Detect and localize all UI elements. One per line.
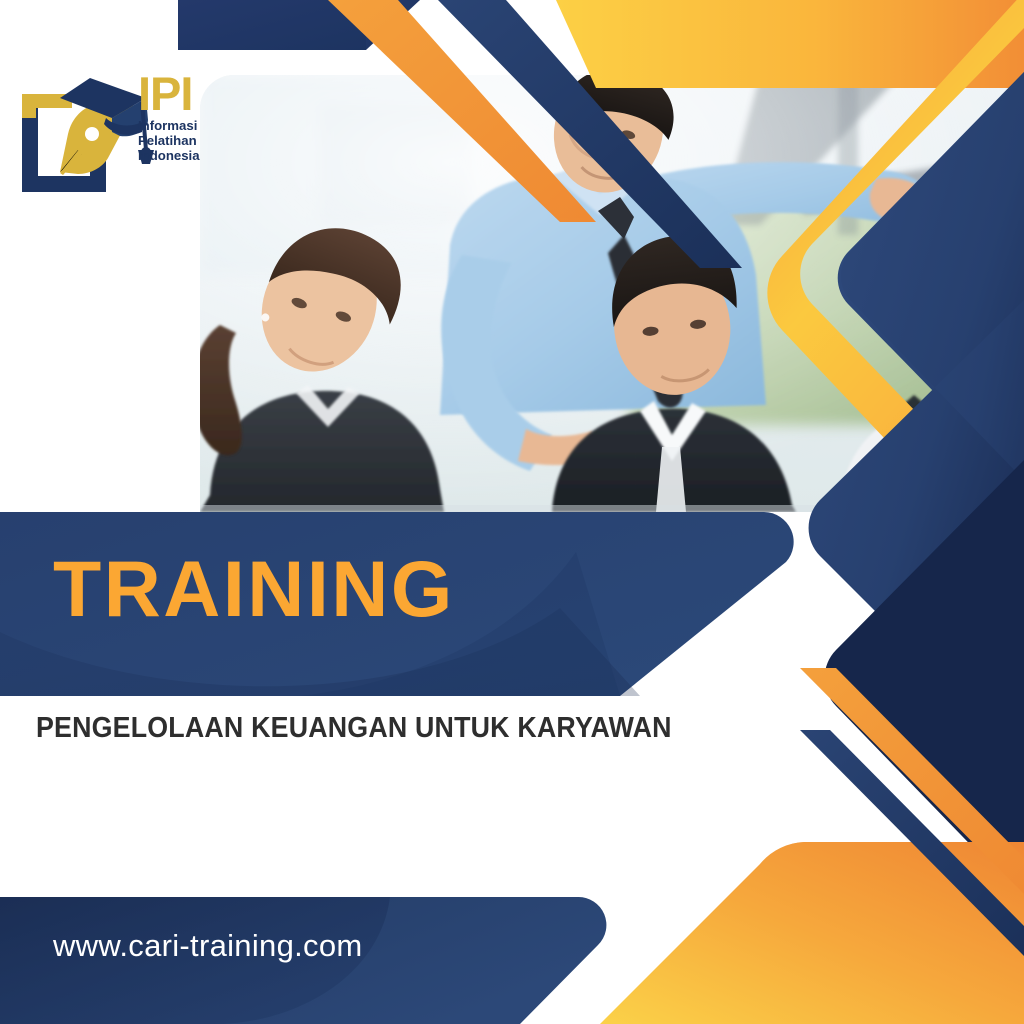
logo-tagline: Informasi Pelatihan Indonesia xyxy=(138,118,234,163)
orange-accent-stripe xyxy=(800,668,1024,894)
logo-tagline-line-1: Informasi xyxy=(138,118,234,133)
navy-wedge-shape xyxy=(178,0,420,50)
poster-canvas: IPI Informasi Pelatihan Indonesia xyxy=(0,0,1024,1024)
page-subtitle: PENGELOLAAN KEUANGAN UNTUK KARYAWAN xyxy=(36,712,672,745)
logo-tagline-line-3: Indonesia xyxy=(138,148,234,163)
hero-photo xyxy=(200,75,1024,512)
logo-tagline-line-2: Pelatihan xyxy=(138,133,234,148)
navy-accent-stripe xyxy=(800,730,1024,956)
footer-website[interactable]: www.cari-training.com xyxy=(53,928,363,964)
logo-acronym: IPI xyxy=(138,72,234,115)
navy-chevron-lower xyxy=(825,460,1024,900)
brand-logo: IPI Informasi Pelatihan Indonesia xyxy=(16,72,216,200)
page-title: TRAINING xyxy=(53,549,455,628)
